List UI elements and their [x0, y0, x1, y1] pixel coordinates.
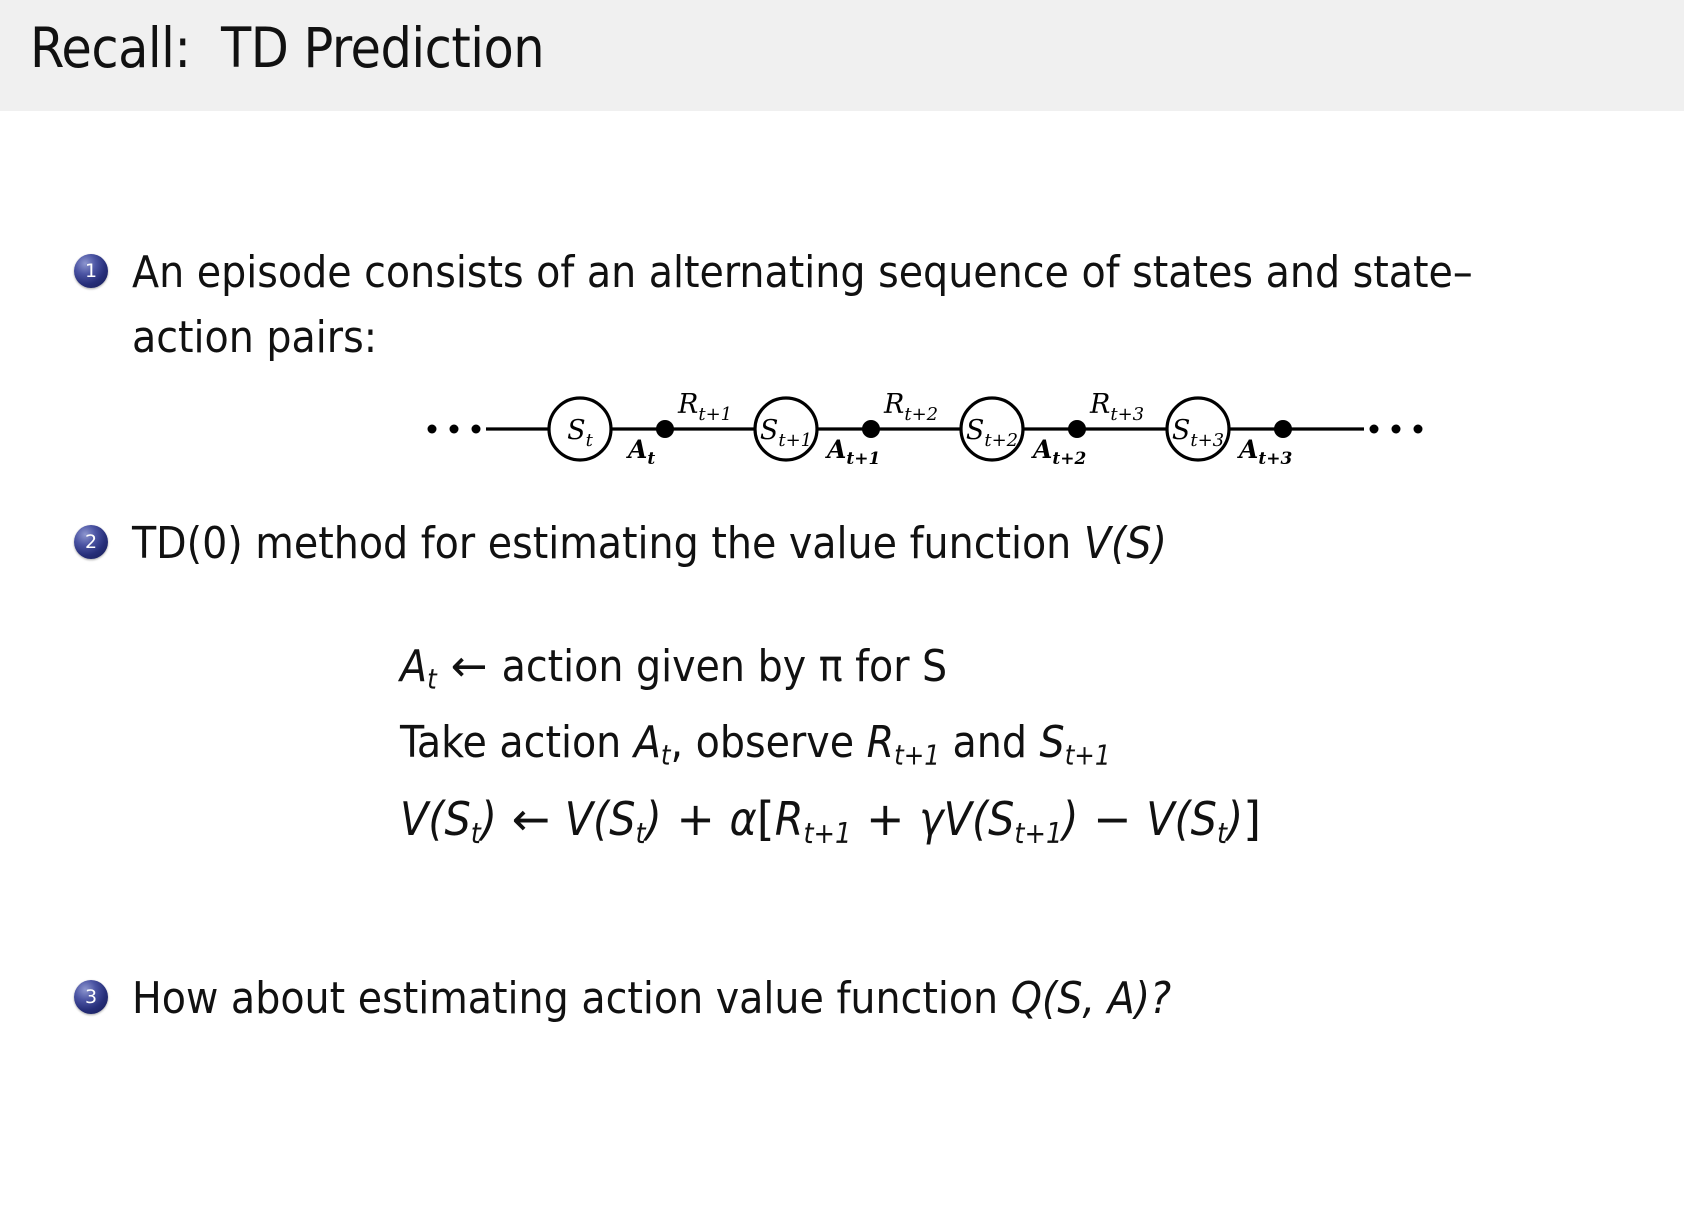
action-dot-0: [656, 420, 674, 438]
slide-content: 1 An episode consists of an alternating …: [0, 111, 1684, 1230]
bullet-3-math: Q(S, A)?: [1011, 973, 1171, 1024]
eq-plus-1: +: [662, 792, 730, 846]
eq-reward: Rt+1: [775, 792, 852, 846]
eq-arrow-icon: ←: [497, 792, 565, 846]
algo-line1-arrow-icon: ←: [437, 641, 502, 692]
eq-open-bracket: [: [757, 792, 775, 846]
eq-gamma: γ: [919, 792, 943, 846]
eq-alpha: α: [730, 792, 757, 846]
algo-line2-text1: Take action: [400, 717, 634, 768]
algo-line1-lhs: At: [400, 641, 437, 692]
action-dot-3: [1274, 420, 1292, 438]
algo-line1-rest: action given by π for S: [502, 641, 948, 692]
algo-line2-text2: , observe: [671, 717, 867, 768]
bullet-2-math: V(S): [1084, 518, 1167, 569]
slide-title-bar: Recall: TD Prediction: [0, 0, 1684, 111]
algo-line2-sym3: St+1: [1040, 717, 1111, 768]
trailing-ellipsis: [1370, 425, 1423, 434]
eq-plus-2: +: [851, 792, 919, 846]
action-dot-1: [862, 420, 880, 438]
algorithm-line-2: Take action At, observe Rt+1 and St+1: [400, 705, 1550, 781]
page-title: Recall: TD Prediction: [30, 16, 544, 80]
eq-v-st-last: V(St): [1146, 792, 1243, 846]
eq-close-bracket: ]: [1243, 792, 1261, 846]
eq-v-st-rhs: V(St): [565, 792, 662, 846]
leading-ellipsis: [428, 425, 481, 434]
action-label-1: At+1: [825, 435, 880, 469]
algo-line2-sym1: At: [634, 717, 671, 768]
reward-label-0: Rt+1: [677, 389, 732, 425]
algo-line2-text3: and: [940, 717, 1040, 768]
bullet-3-prefix: How about estimating action value functi…: [132, 973, 1011, 1024]
algo-line2-sym2: Rt+1: [867, 717, 940, 768]
action-dot-2: [1068, 420, 1086, 438]
reward-label-1: Rt+2: [883, 389, 938, 425]
bullet-text-3: How about estimating action value functi…: [132, 966, 1171, 1031]
bullet-text-2: TD(0) method for estimating the value fu…: [132, 511, 1167, 576]
algorithm-line-3-update-equation: V(St) ← V(St) + α[Rt+1 + γV(St+1) − V(St…: [400, 780, 1550, 859]
eq-v-st1: V(St+1): [944, 792, 1079, 846]
bullet-number-badge-1: 1: [74, 254, 108, 288]
action-label-3: At+3: [1237, 435, 1293, 469]
td-zero-algorithm-block: At ← action given by π for S Take action…: [400, 629, 1550, 859]
bullet-number-badge-2: 2: [74, 525, 108, 559]
action-label-2: At+2: [1031, 435, 1087, 469]
reward-label-2: Rt+3: [1089, 389, 1144, 425]
action-label-0: At: [626, 435, 655, 469]
bullet-item-1: 1 An episode consists of an alternating …: [74, 240, 1534, 370]
eq-v-st-lhs: V(St): [400, 792, 497, 846]
eq-minus: −: [1078, 792, 1146, 846]
bullet-2-prefix: TD(0) method for estimating the value fu…: [132, 518, 1084, 569]
episode-chain-diagram: St St+1 St+2 St+3 Rt+1 Rt+2 Rt+3 At At+1…: [420, 379, 1430, 479]
bullet-text-1: An episode consists of an alternating se…: [132, 240, 1534, 370]
bullet-item-3: 3 How about estimating action value func…: [74, 966, 1534, 1031]
bullet-item-2: 2 TD(0) method for estimating the value …: [74, 511, 1534, 576]
algorithm-line-1: At ← action given by π for S: [400, 629, 1550, 705]
bullet-number-badge-3: 3: [74, 980, 108, 1014]
